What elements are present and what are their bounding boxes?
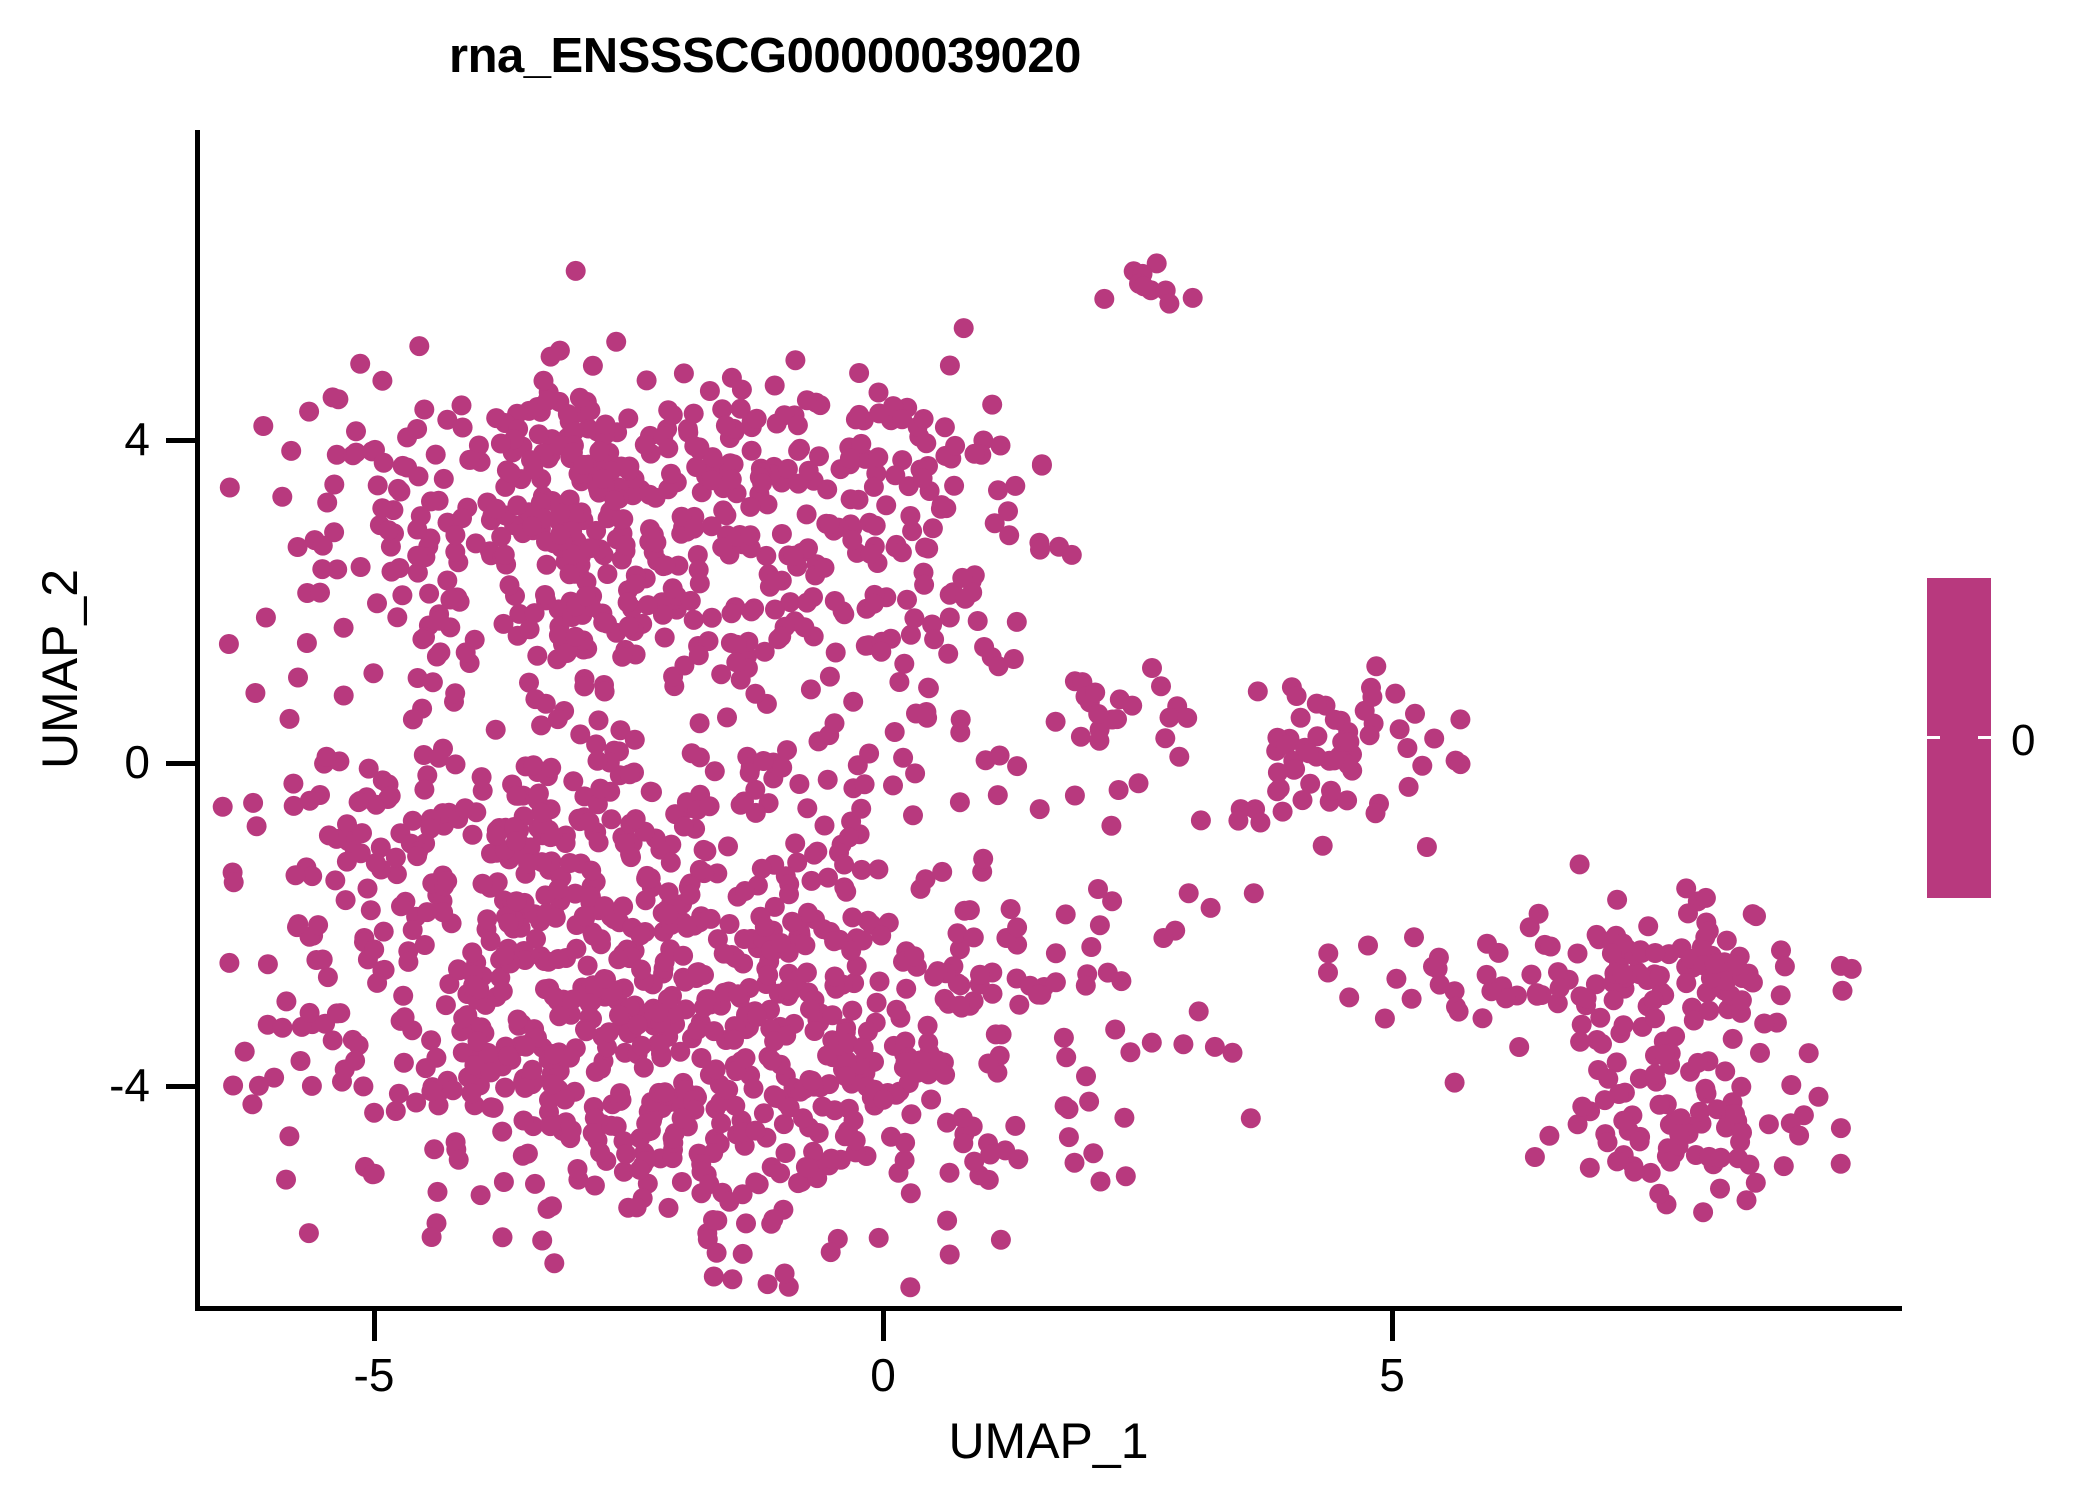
y-tick-label-neg4: -4	[109, 1058, 150, 1112]
y-axis-title: UMAP_2	[31, 389, 89, 949]
y-axis-line	[195, 130, 200, 1311]
x-axis-line	[195, 1306, 1902, 1311]
x-axis-title: UMAP_1	[195, 1412, 1902, 1470]
y-tick-mark-0	[166, 761, 196, 766]
x-tick-mark-5	[1390, 1311, 1395, 1341]
y-tick-mark-neg4	[166, 1084, 196, 1089]
colorbar-tick-label-0: 0	[2011, 719, 2035, 763]
umap-feature-plot-figure: rna_ENSSSCG00000039020 4 0 -4 -5 0 5 UMA…	[0, 0, 2100, 1500]
colorbar-tick-right	[1978, 736, 1991, 739]
x-tick-label-5: 5	[1332, 1348, 1452, 1402]
x-tick-mark-neg5	[372, 1311, 377, 1341]
scatter-points-layer	[195, 130, 1902, 1310]
y-tick-label-0: 0	[124, 735, 150, 789]
colorbar-gradient	[1927, 578, 1991, 898]
page-title: rna_ENSSSCG00000039020	[0, 28, 1530, 84]
x-tick-mark-0	[881, 1311, 886, 1341]
y-tick-mark-4	[166, 438, 196, 443]
colorbar-tick-left	[1927, 736, 1940, 739]
plot-panel	[195, 130, 1902, 1310]
x-tick-label-0: 0	[823, 1348, 943, 1402]
y-tick-label-4: 4	[124, 412, 150, 466]
x-tick-label-neg5: -5	[314, 1348, 434, 1402]
